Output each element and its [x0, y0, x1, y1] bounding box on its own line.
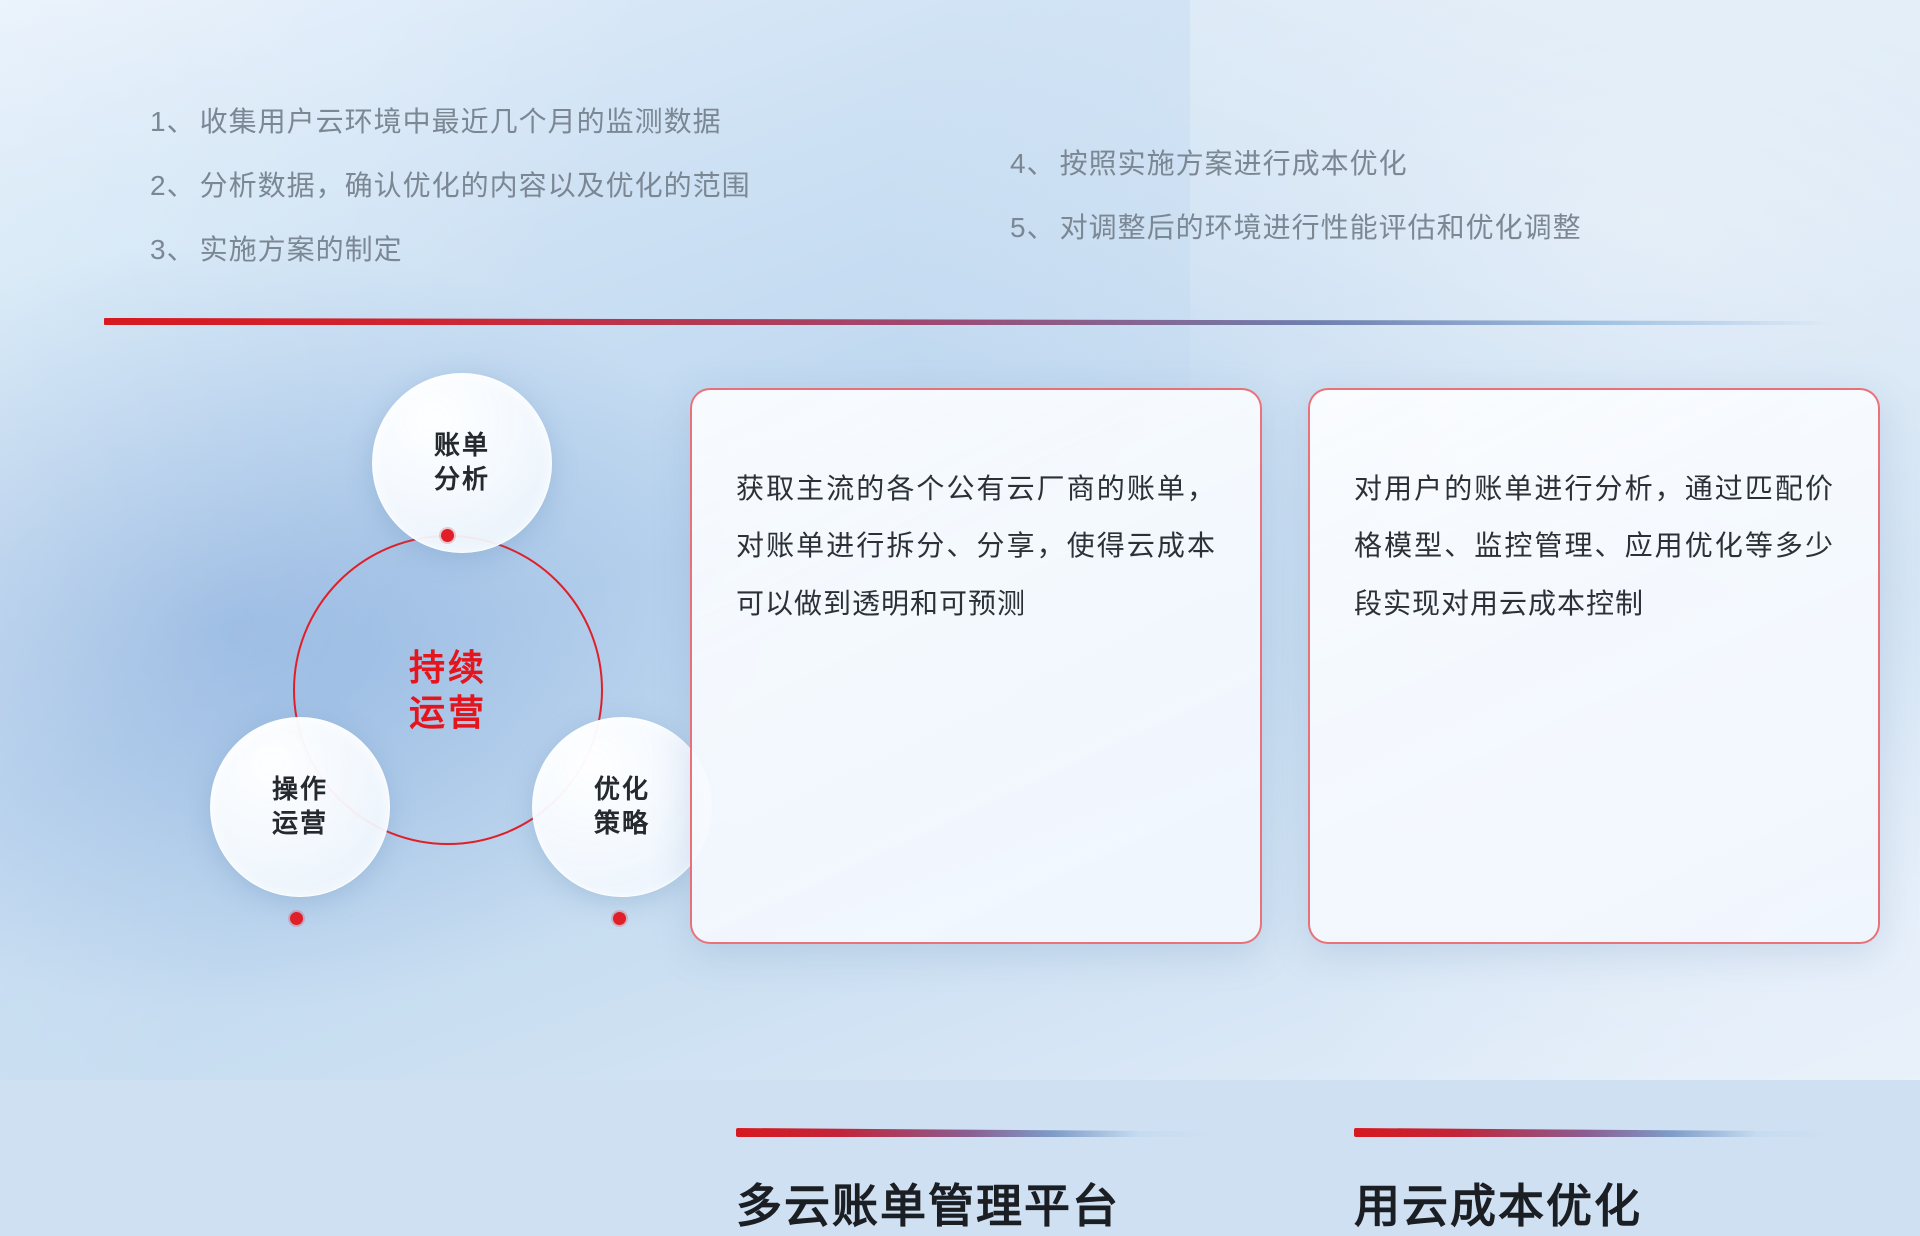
steps-list-left: 1、收集用户云环境中最近几个月的监测数据 2、分析数据，确认优化的内容以及优化的…: [150, 108, 751, 300]
step-number: 3、: [150, 234, 196, 265]
step-item: 3、实施方案的制定: [150, 236, 751, 264]
card-divider: [1354, 1128, 1834, 1137]
step-text: 实施方案的制定: [200, 234, 403, 265]
info-card-multicloud-billing[interactable]: 获取主流的各个公有云厂商的账单，对账单进行拆分、分享，使得云成本可以做到透明和可…: [690, 388, 1262, 944]
card-body-text: 获取主流的各个公有云厂商的账单，对账单进行拆分、分享，使得云成本可以做到透明和可…: [736, 460, 1216, 632]
step-number: 5、: [1010, 212, 1056, 243]
node-dot-icon: [441, 529, 454, 542]
venn-bubble-label: 操作 运营: [272, 773, 328, 841]
step-item: 2、分析数据，确认优化的内容以及优化的范围: [150, 172, 751, 200]
step-item: 1、收集用户云环境中最近几个月的监测数据: [150, 108, 751, 136]
card-body-text: 对用户的账单进行分析，通过匹配价格模型、监控管理、应用优化等多少段实现对用云成本…: [1354, 460, 1834, 632]
step-text: 按照实施方案进行成本优化: [1060, 148, 1408, 179]
step-number: 2、: [150, 170, 196, 201]
step-text: 收集用户云环境中最近几个月的监测数据: [200, 106, 722, 137]
venn-bubble-label: 优化 策略: [594, 773, 650, 841]
venn-bubble-label: 账单 分析: [434, 429, 490, 497]
step-number: 1、: [150, 106, 196, 137]
card-title: 多云账单管理平台: [736, 1170, 1120, 1236]
step-text: 分析数据，确认优化的内容以及优化的范围: [200, 170, 751, 201]
venn-bubble-operations[interactable]: 操作 运营: [210, 717, 390, 897]
step-number: 4、: [1010, 148, 1056, 179]
card-divider: [736, 1128, 1216, 1137]
venn-bubble-optimization-strategy[interactable]: 优化 策略: [532, 717, 712, 897]
slide-canvas: 1、收集用户云环境中最近几个月的监测数据 2、分析数据，确认优化的内容以及优化的…: [0, 0, 1920, 1080]
step-text: 对调整后的环境进行性能评估和优化调整: [1060, 212, 1582, 243]
card-title: 用云成本优化: [1354, 1170, 1642, 1236]
venn-bubble-billing-analysis[interactable]: 账单 分析: [372, 373, 552, 553]
venn-diagram: 持续 运营 账单 分析 操作 运营 优化 策略: [100, 355, 640, 935]
info-card-cloud-cost-optimization[interactable]: 对用户的账单进行分析，通过匹配价格模型、监控管理、应用优化等多少段实现对用云成本…: [1308, 388, 1880, 944]
steps-list-right: 4、按照实施方案进行成本优化 5、对调整后的环境进行性能评估和优化调整: [1010, 150, 1582, 278]
node-dot-icon: [613, 912, 626, 925]
section-divider: [104, 318, 1834, 325]
node-dot-icon: [290, 912, 303, 925]
step-item: 4、按照实施方案进行成本优化: [1010, 150, 1582, 178]
step-item: 5、对调整后的环境进行性能评估和优化调整: [1010, 214, 1582, 242]
